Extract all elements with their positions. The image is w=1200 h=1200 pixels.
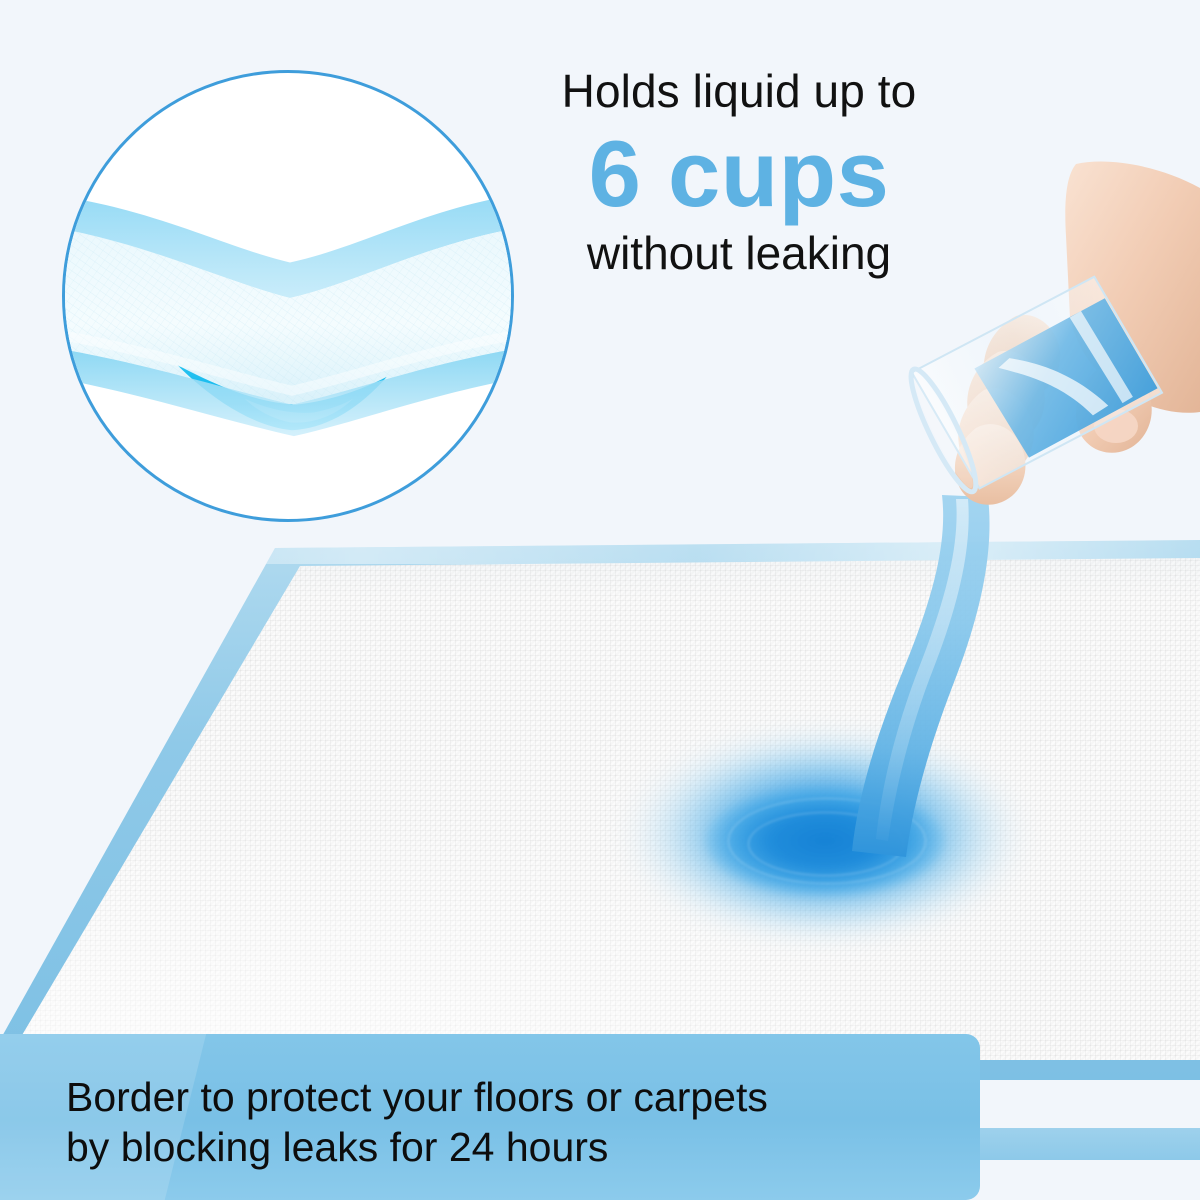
drinking-glass xyxy=(899,272,1164,497)
hand-fingers xyxy=(955,315,1060,505)
headline-line-3: without leaking xyxy=(498,228,980,279)
thumbnail xyxy=(1094,409,1138,443)
product-feature-image: Holds liquid up to 6 cups without leakin… xyxy=(0,0,1200,1200)
magnified-detail-circle-icon xyxy=(62,70,514,522)
hand-palm xyxy=(1065,162,1200,413)
feature-banner-text: Border to protect your floors or carpets… xyxy=(66,1072,906,1172)
headline-line-1: Holds liquid up to xyxy=(498,66,980,117)
hand-thumb xyxy=(1076,367,1152,452)
headline-highlight-capacity: 6 cups xyxy=(498,121,980,226)
background-below-pad xyxy=(968,1160,1200,1200)
glass-rim xyxy=(901,363,986,498)
absorbent-layer-closeup xyxy=(62,70,514,522)
liquid-ripple xyxy=(748,812,904,876)
glass-water xyxy=(972,295,1160,462)
hand-pouring-glass xyxy=(880,150,1200,570)
pad-bottom-border-strip xyxy=(968,1128,1200,1160)
feature-banner: Border to protect your floors or carpets… xyxy=(0,1034,980,1200)
headline-block: Holds liquid up to 6 cups without leakin… xyxy=(498,66,980,278)
